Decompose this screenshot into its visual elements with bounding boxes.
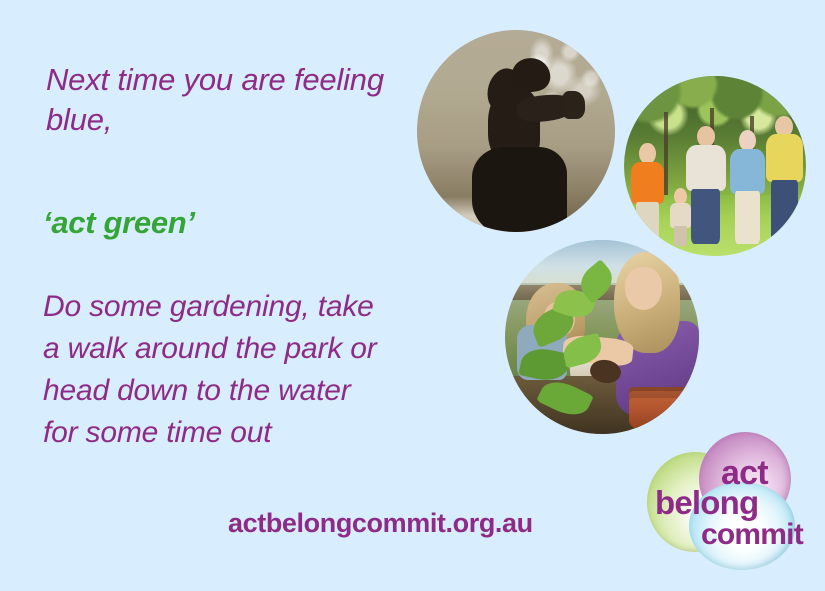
photo-family-in-park <box>624 76 806 256</box>
figure-woman-orange <box>628 143 668 242</box>
figure-man-yellow-polo <box>764 116 806 242</box>
girl-right-face <box>625 267 662 310</box>
tagline-act-green: ‘act green’ <box>40 203 195 243</box>
body-copy-text: Do some gardening, take a walk around th… <box>40 286 377 454</box>
act-belong-commit-logo[interactable]: belong act commit <box>645 430 805 570</box>
photo-children-gardening <box>505 240 699 434</box>
figure-woman-blue-shirt <box>728 130 768 242</box>
logo-word-commit: commit <box>701 520 803 550</box>
photo-yoga-by-water <box>417 30 615 232</box>
website-url[interactable]: actbelongcommit.org.au <box>228 508 533 539</box>
campaign-poster: Next time you are feeling blue, ‘act gre… <box>0 0 825 591</box>
headline-text: Next time you are feeling blue, <box>40 60 440 140</box>
silhouette-hips <box>472 147 567 232</box>
copy-block: Next time you are feeling blue, ‘act gre… <box>40 60 440 140</box>
logo-word-act: act <box>721 456 768 490</box>
figure-man-white-shirt <box>684 126 728 241</box>
silhouette-hand <box>562 91 586 119</box>
terracotta-pots <box>629 387 691 430</box>
